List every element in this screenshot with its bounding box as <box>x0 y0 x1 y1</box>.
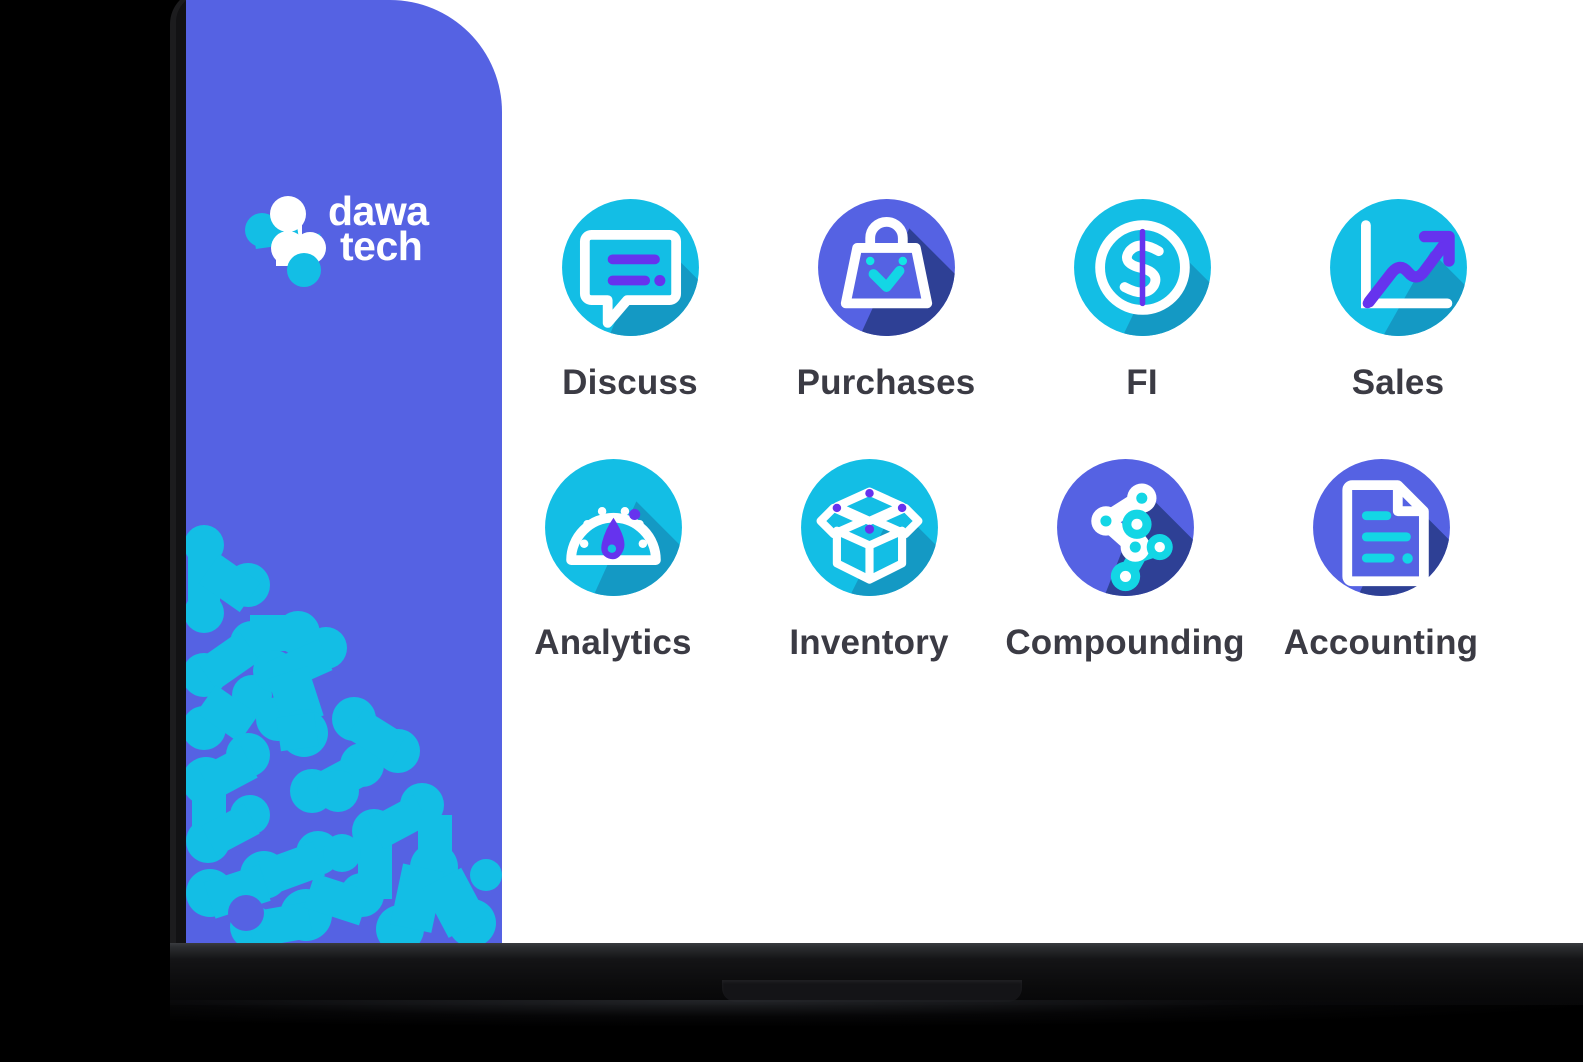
app-tile-discuss[interactable]: Discuss <box>502 186 758 426</box>
app-grid-row: Analytics <box>502 446 1583 686</box>
laptop-mockup: dawa tech <box>0 0 1583 1062</box>
connected-dots-pattern-decoration <box>186 523 502 943</box>
app-label: Analytics <box>534 623 691 663</box>
speech-bubble-icon[interactable] <box>549 186 712 349</box>
brand-logo: dawa tech <box>240 188 490 288</box>
brand-line-tech: tech <box>328 229 488 264</box>
crop-mask-left <box>0 0 170 1062</box>
trend-chart-icon[interactable] <box>1317 186 1480 349</box>
app-label: Accounting <box>1284 623 1478 663</box>
gauge-icon[interactable] <box>532 446 695 609</box>
brand-wordmark: dawa tech <box>328 194 488 286</box>
app-tile-compounding[interactable]: Compounding <box>997 446 1253 686</box>
app-label: Compounding <box>1005 623 1244 663</box>
laptop-base-notch <box>722 980 1022 1002</box>
app-label: Purchases <box>797 363 976 403</box>
dawatech-node-logo-icon <box>240 192 336 288</box>
app-tile-purchases[interactable]: Purchases <box>758 186 1014 426</box>
app-sidebar: dawa tech <box>186 0 502 943</box>
dollar-coin-icon[interactable] <box>1061 186 1224 349</box>
document-icon[interactable] <box>1300 446 1463 609</box>
app-grid-row: Discuss <box>502 186 1583 426</box>
app-grid: Discuss <box>502 0 1583 943</box>
app-tile-sales[interactable]: Sales <box>1270 186 1526 426</box>
open-box-icon[interactable] <box>788 446 951 609</box>
app-label: Inventory <box>789 623 948 663</box>
laptop-screen: dawa tech <box>186 0 1583 943</box>
molecule-network-icon[interactable] <box>1044 446 1207 609</box>
app-tile-inventory[interactable]: Inventory <box>741 446 997 686</box>
app-label: Discuss <box>562 363 698 403</box>
app-label: Sales <box>1352 363 1444 403</box>
app-tile-fi[interactable]: FI <box>1014 186 1270 426</box>
laptop-foot-shadow <box>0 1000 1583 1026</box>
shopping-bag-icon[interactable] <box>805 186 968 349</box>
app-tile-accounting[interactable]: Accounting <box>1253 446 1509 686</box>
app-tile-analytics[interactable]: Analytics <box>485 446 741 686</box>
app-label: FI <box>1126 363 1158 403</box>
